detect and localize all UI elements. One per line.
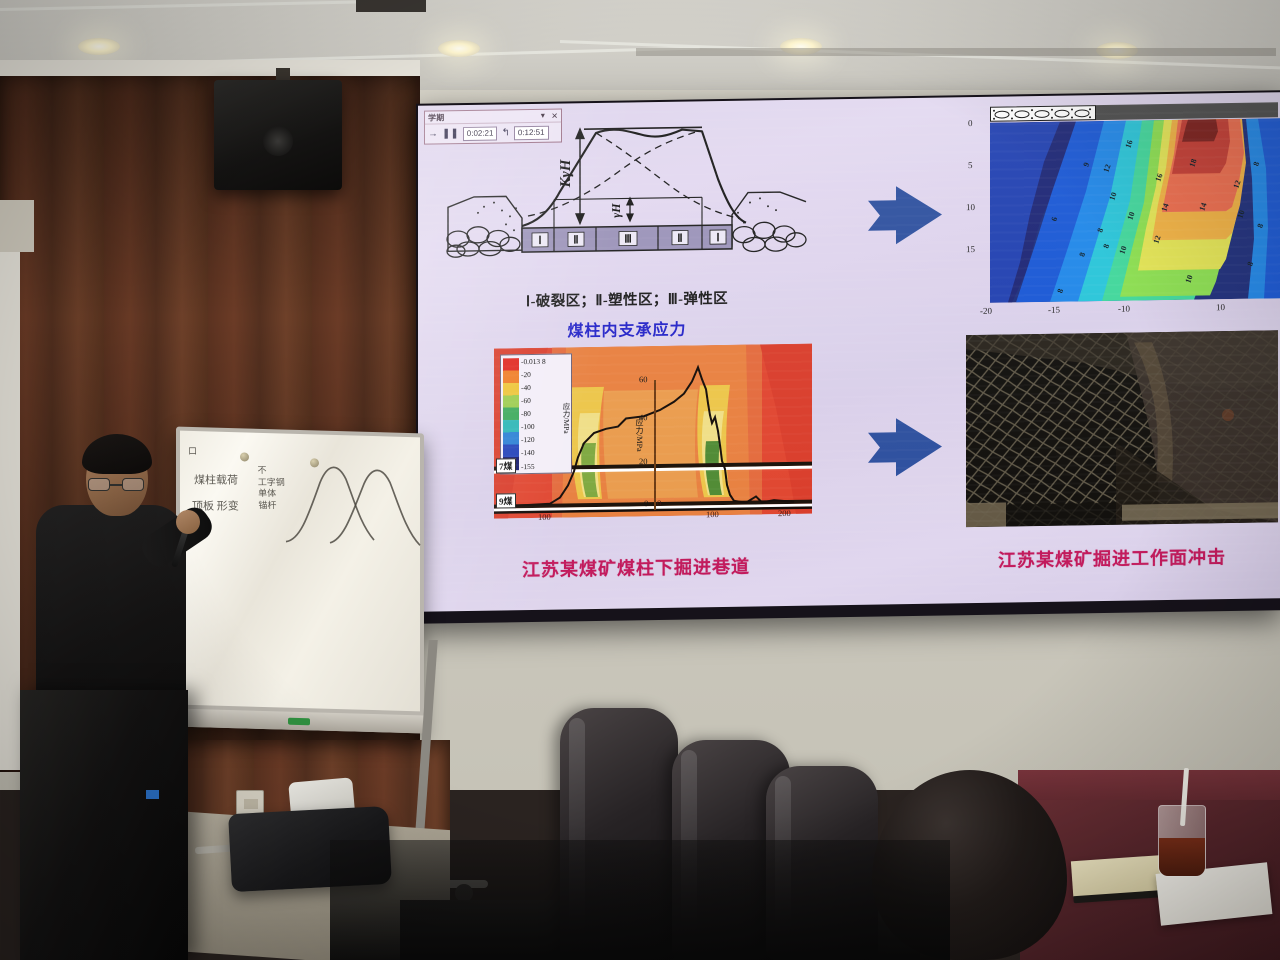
whiteboard-sketch (282, 455, 422, 551)
cbar-tick: -40 (521, 384, 569, 392)
pillar-figure-caption: 煤柱内支承应力 (444, 314, 810, 344)
roadway-failure-photo (966, 330, 1278, 527)
svg-text:Ⅱ: Ⅱ (677, 233, 682, 245)
fem-xtick-zero: 0 (657, 498, 661, 508)
downlight-icon (438, 40, 480, 57)
projection-screen: 学期 ▼ ✕ → ❚❚ 0:02:21 ↰ 0:12:51 (418, 92, 1280, 612)
iced-drink-cup (1158, 805, 1206, 877)
fem-xtick-left: 100 (538, 512, 551, 522)
notebook (1071, 855, 1169, 898)
pillar-stress-svg: Ⅰ Ⅱ Ⅲ Ⅱ Ⅰ (444, 118, 810, 294)
fem-ytick-0: 0 (644, 498, 648, 508)
foreground-shadow (330, 840, 950, 960)
wall-edge (0, 250, 20, 770)
stress-contour-figure: 12 9 10 10 8 8 10 8 16 14 12 10 18 14 (966, 102, 1278, 322)
zone-legend: Ⅰ-破裂区；Ⅱ-塑性区；Ⅲ-弹性区 (444, 286, 810, 313)
fem-ytick-60: 60 (639, 374, 648, 384)
svg-text:Ⅲ: Ⅲ (624, 233, 632, 245)
pillar-stress-diagram: Ⅰ Ⅱ Ⅲ Ⅱ Ⅰ (444, 118, 810, 324)
whiteboard: 口 煤柱载荷 顶板 形变 不 工字钢 单体 锚杆 (176, 427, 424, 734)
ceiling-vent (356, 0, 426, 12)
projection-screen-frame: 学期 ▼ ✕ → ❚❚ 0:02:21 ↰ 0:12:51 (416, 90, 1280, 624)
fem-xtick-far: 200 (778, 508, 791, 518)
downlight-icon (78, 38, 120, 55)
chevron-down-icon[interactable]: ▼ (539, 112, 546, 119)
marker-pen[interactable] (288, 718, 310, 726)
whiteboard-line-1: 煤柱载荷 (194, 474, 238, 489)
fem-ytick-20: 20 (639, 456, 648, 466)
whiteboard-surface: 口 煤柱载荷 顶板 形变 不 工字钢 单体 锚杆 (180, 431, 420, 712)
magnet-icon (240, 452, 249, 461)
colorbar-gradient (503, 358, 519, 470)
wall-trim (0, 60, 420, 76)
cbar-tick: -120 (521, 436, 569, 444)
glasses-icon (88, 478, 144, 491)
svg-text:Ⅰ: Ⅰ (538, 235, 541, 247)
cbar-tick: -155 (521, 462, 569, 470)
colorbar-title: 应力/MPa (561, 402, 572, 433)
presenter-hand (176, 510, 200, 534)
seam-tag-lower: 9煤 (496, 493, 516, 508)
toolbar-title: 学期 (428, 112, 444, 123)
fem-curve-axis-title: 应力/MPa (634, 418, 645, 452)
cbar-tick: -0.013 8 (521, 357, 569, 365)
contour-xtick-10: 10 (1216, 302, 1225, 312)
lecture-room-scene: 学期 ▼ ✕ → ❚❚ 0:02:21 ↰ 0:12:51 (0, 0, 1280, 960)
close-icon[interactable]: ✕ (551, 111, 558, 120)
caption-right: 江苏某煤矿掘进工作面冲击 (998, 543, 1226, 573)
cbar-tick: -20 (521, 370, 569, 378)
contour-xtick--10: -10 (1118, 304, 1130, 314)
svg-text:γH: γH (609, 203, 623, 218)
contour-xtick--15: -15 (1048, 305, 1060, 315)
arrow-bottom-icon (866, 416, 944, 484)
fem-stress-figure: -0.013 8 -20 -40 -60 -80 -100 -120 -140 … (494, 344, 812, 535)
fem-curve-yaxis (654, 380, 656, 510)
caption-left: 江苏某煤矿煤柱下掘进巷道 (522, 553, 750, 583)
floor-speaker (20, 690, 188, 960)
wall-fixture (0, 200, 34, 252)
fem-colorbar: -0.013 8 -20 -40 -60 -80 -100 -120 -140 … (500, 353, 572, 474)
advance-arrow-icon[interactable]: → (428, 128, 438, 139)
wall-speaker (214, 80, 342, 190)
fem-ytick-40: 40 (639, 412, 648, 422)
cup-liquid (1159, 838, 1205, 876)
arrow-top-icon (866, 184, 944, 252)
svg-text:KγH: KγH (558, 158, 574, 188)
contour-xtick--20: -20 (980, 306, 992, 316)
svg-text:Ⅱ: Ⅱ (573, 234, 578, 246)
cbar-tick: -140 (521, 449, 569, 457)
fem-xtick-right: 100 (706, 509, 719, 519)
whiteboard-mark: 口 (188, 445, 197, 457)
speaker-badge (146, 790, 159, 799)
seam-tag-upper: 7煤 (496, 458, 516, 473)
ceiling-trim (636, 48, 1276, 56)
svg-text:Ⅰ: Ⅰ (716, 232, 719, 244)
